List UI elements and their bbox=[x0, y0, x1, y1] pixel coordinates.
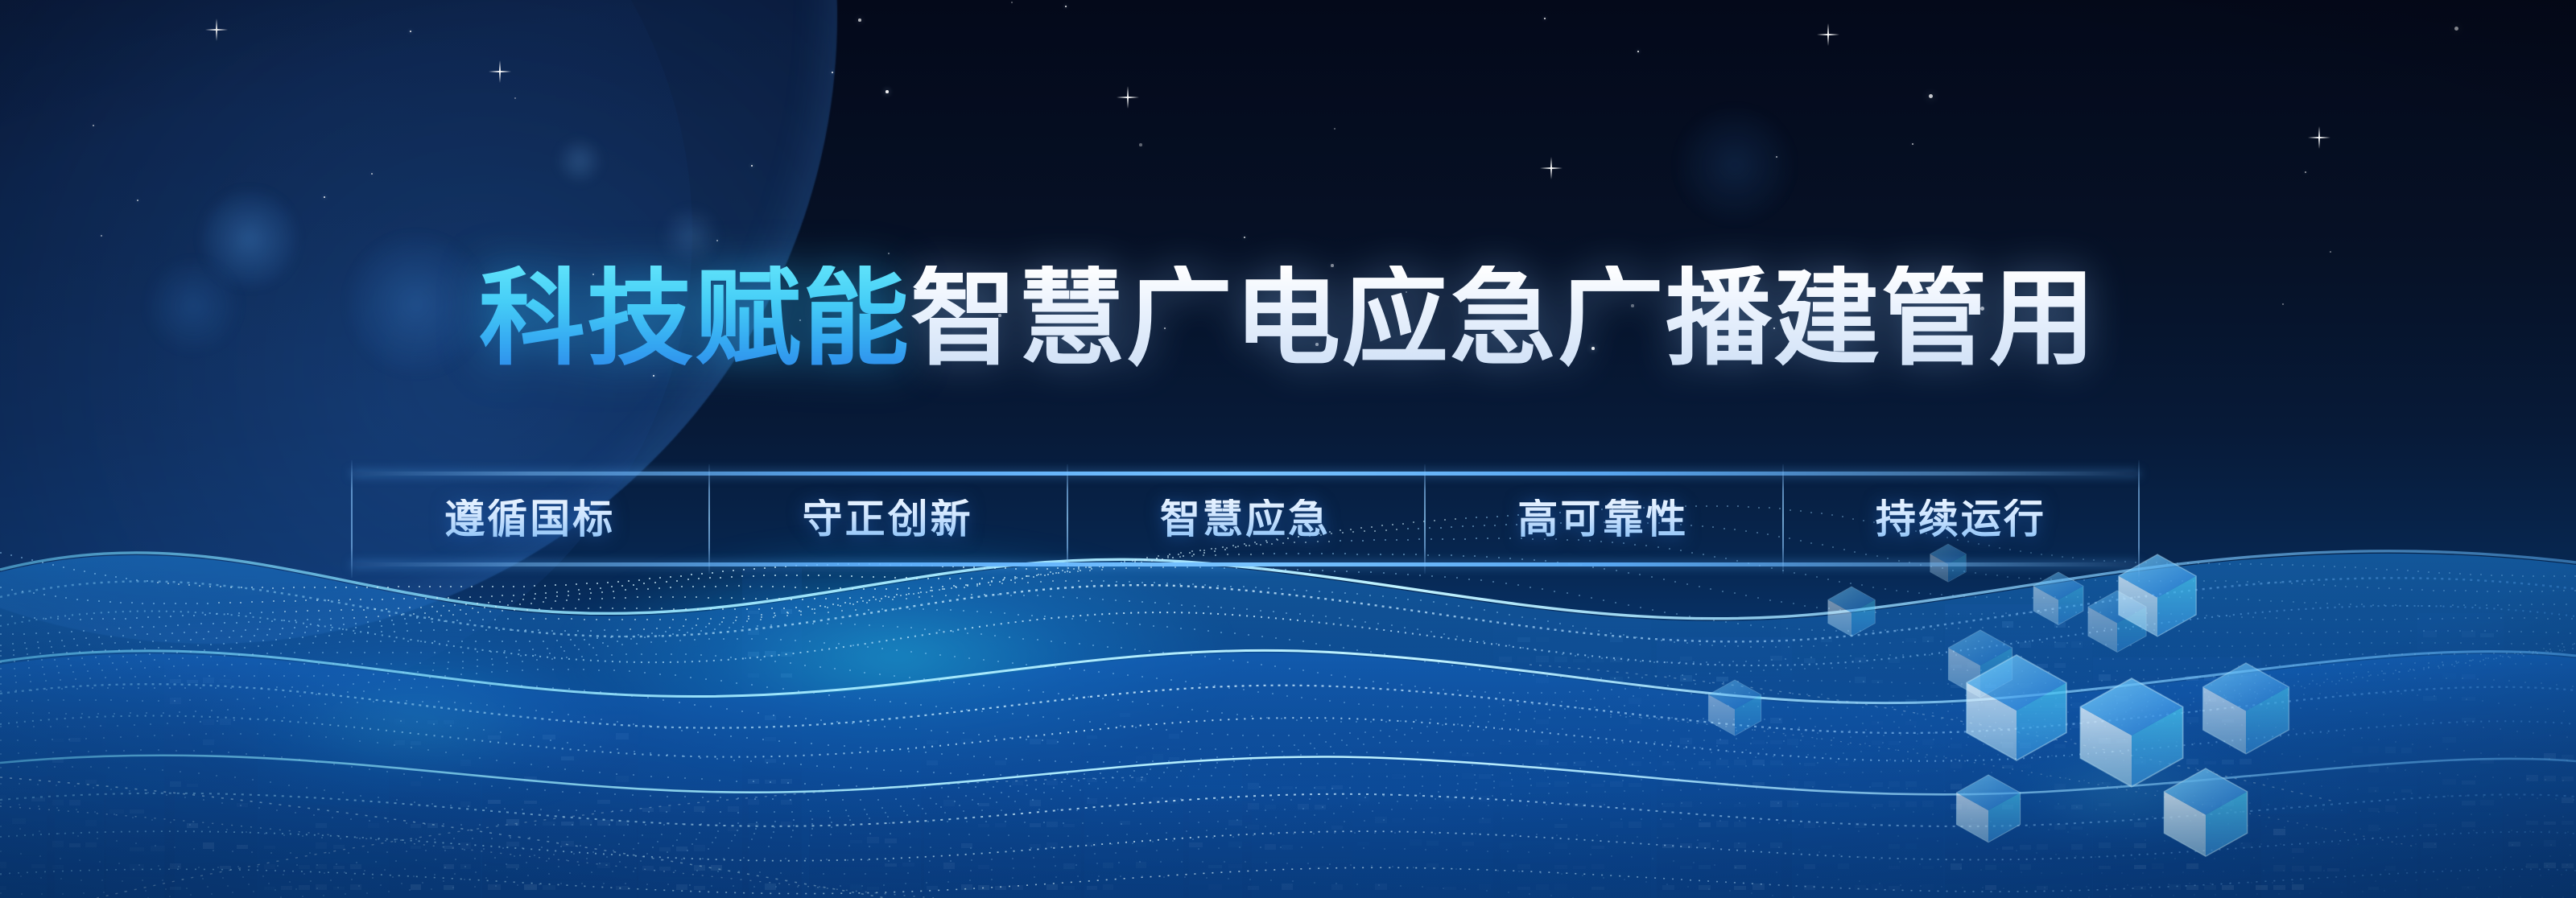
feature-label: 遵循国标 bbox=[444, 499, 615, 539]
feature-bar: 遵循国标 守正创新 智慧应急 高可靠性 持续运行 bbox=[351, 472, 2140, 566]
feature-label: 高可靠性 bbox=[1517, 499, 1688, 539]
title-accent-text: 科技赋能 bbox=[479, 266, 910, 372]
feature-item-4[interactable]: 持续运行 bbox=[1782, 476, 2140, 562]
feature-item-3[interactable]: 高可靠性 bbox=[1424, 476, 1781, 562]
feature-item-1[interactable]: 守正创新 bbox=[708, 476, 1066, 562]
feature-bar-bottom-line bbox=[351, 562, 2140, 566]
feature-cells: 遵循国标 守正创新 智慧应急 高可靠性 持续运行 bbox=[351, 476, 2140, 562]
hero-banner: 科技赋能智慧广电应急广播建管用 遵循国标 守正创新 智慧应急 高可靠性 持 bbox=[0, 0, 2576, 898]
feature-label: 智慧应急 bbox=[1160, 499, 1331, 539]
feature-label: 持续运行 bbox=[1876, 499, 2046, 539]
feature-item-2[interactable]: 智慧应急 bbox=[1067, 476, 1424, 562]
feature-label: 守正创新 bbox=[803, 499, 973, 539]
banner-content: 科技赋能智慧广电应急广播建管用 遵循国标 守正创新 智慧应急 高可靠性 持 bbox=[0, 0, 2576, 898]
feature-item-0[interactable]: 遵循国标 bbox=[351, 476, 708, 562]
title-plain-text: 智慧广电应急广播建管用 bbox=[910, 266, 2097, 372]
page-title: 科技赋能智慧广电应急广播建管用 bbox=[0, 266, 2576, 372]
